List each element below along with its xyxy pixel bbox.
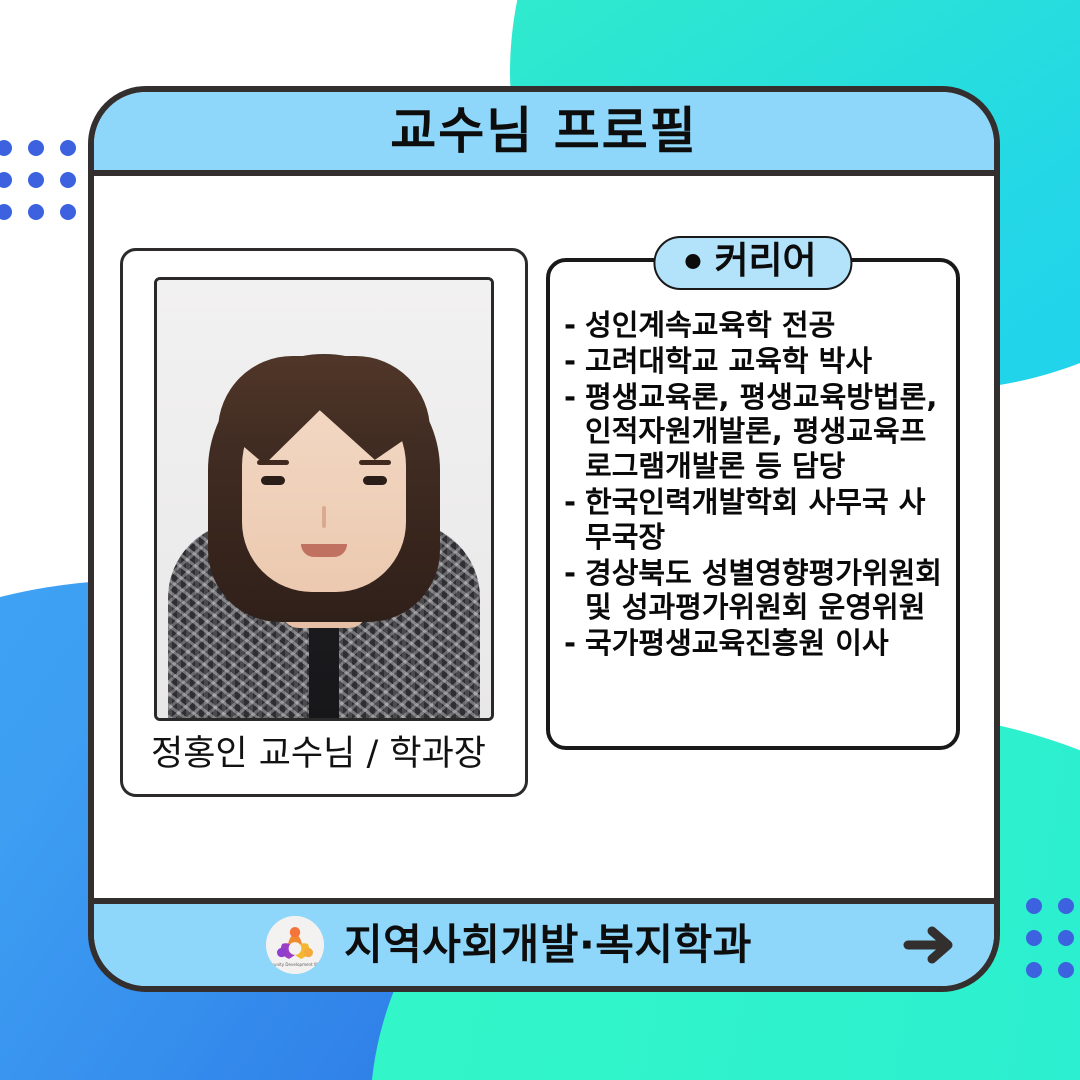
- professor-name: 정홍인 교수님 / 학과장: [151, 735, 499, 774]
- department-name: 지역사회개발·복지학과: [344, 924, 752, 966]
- name-plate: 정홍인 교수님 / 학과장: [145, 721, 503, 780]
- career-entry-text: 경상북도 성별영향평가위원회 및 성과평가위원회 운영위원: [585, 556, 944, 626]
- decor-dot: [28, 172, 44, 188]
- photo-card: 정홍인 교수님 / 학과장: [120, 248, 528, 797]
- career-box: -성인계속교육학 전공-고려대학교 교육학 박사-평생교육론, 평생교육방법론,…: [546, 258, 960, 750]
- career-entry: -경상북도 성별영향평가위원회 및 성과평가위원회 운영위원: [564, 556, 944, 626]
- decor-dot: [60, 140, 76, 156]
- decor-dot: [1058, 930, 1074, 946]
- career-entry-marker: -: [564, 626, 576, 661]
- portrait-eyebrow-right: [359, 460, 391, 465]
- career-entry: -한국인력개발학회 사무국 사무국장: [564, 485, 944, 555]
- decor-dot: [60, 204, 76, 220]
- decor-dot: [1026, 962, 1042, 978]
- career-entry: -국가평생교육진흥원 이사: [564, 626, 944, 661]
- professor-photo: [154, 277, 494, 721]
- portrait-mouth: [301, 544, 347, 557]
- decor-dot: [0, 204, 12, 220]
- decor-dot: [28, 204, 44, 220]
- career-entry-marker: -: [564, 485, 576, 520]
- career-list: -성인계속교육학 전공-고려대학교 교육학 박사-평생교육론, 평생교육방법론,…: [564, 308, 944, 661]
- decor-dot: [28, 140, 44, 156]
- career-entry-text: 국가평생교육진흥원 이사: [585, 626, 944, 661]
- card-footer: Community Development Welfare 지역사회개발·복지학…: [94, 898, 994, 986]
- decor-dot: [1026, 930, 1042, 946]
- career-entry: -성인계속교육학 전공: [564, 308, 944, 343]
- decor-dot: [1058, 898, 1074, 914]
- career-entry-text: 평생교육론, 평생교육방법론, 인적자원개발론, 평생교육프로그램개발론 등 담…: [585, 380, 944, 484]
- career-entry-marker: -: [564, 308, 576, 343]
- decor-dot: [60, 172, 76, 188]
- portrait-eyebrow-left: [257, 460, 289, 465]
- career-entry-marker: -: [564, 556, 576, 591]
- career-badge: 커리어: [653, 236, 852, 290]
- career-entry-marker: -: [564, 380, 576, 415]
- decor-dot: [0, 172, 12, 188]
- card-body: 정홍인 교수님 / 학과장 커리어 -성인계속교육학 전공-고려대학교 교육학 …: [94, 176, 994, 898]
- career-badge-label: 커리어: [714, 242, 816, 281]
- logo-caption: Community Development Welfare: [266, 962, 324, 967]
- portrait-illustration: [157, 280, 491, 718]
- arrow-right-icon[interactable]: [902, 923, 958, 967]
- decor-dot: [1058, 962, 1074, 978]
- portrait-eye-left: [261, 476, 285, 485]
- dot-grid-right: [1026, 898, 1080, 994]
- decor-dot: [0, 140, 12, 156]
- decor-dot: [1026, 898, 1042, 914]
- career-entry-text: 한국인력개발학회 사무국 사무국장: [585, 485, 944, 555]
- career-entry-text: 성인계속교육학 전공: [585, 308, 944, 343]
- department-logo-icon: Community Development Welfare: [266, 916, 324, 974]
- career-block: 커리어 -성인계속교육학 전공-고려대학교 교육학 박사-평생교육론, 평생교육…: [546, 258, 960, 750]
- portrait-nose: [322, 506, 326, 528]
- career-entry-marker: -: [564, 344, 576, 379]
- profile-card: 교수님 프로필: [88, 86, 1000, 992]
- career-entry: -평생교육론, 평생교육방법론, 인적자원개발론, 평생교육프로그램개발론 등 …: [564, 380, 944, 484]
- portrait-eye-right: [363, 476, 387, 485]
- career-entry: -고려대학교 교육학 박사: [564, 344, 944, 379]
- page-title: 교수님 프로필: [390, 106, 697, 156]
- dot-grid-left: [0, 140, 92, 236]
- bullet-dot-icon: [685, 254, 700, 269]
- career-entry-text: 고려대학교 교육학 박사: [585, 344, 944, 379]
- card-header: 교수님 프로필: [94, 92, 994, 176]
